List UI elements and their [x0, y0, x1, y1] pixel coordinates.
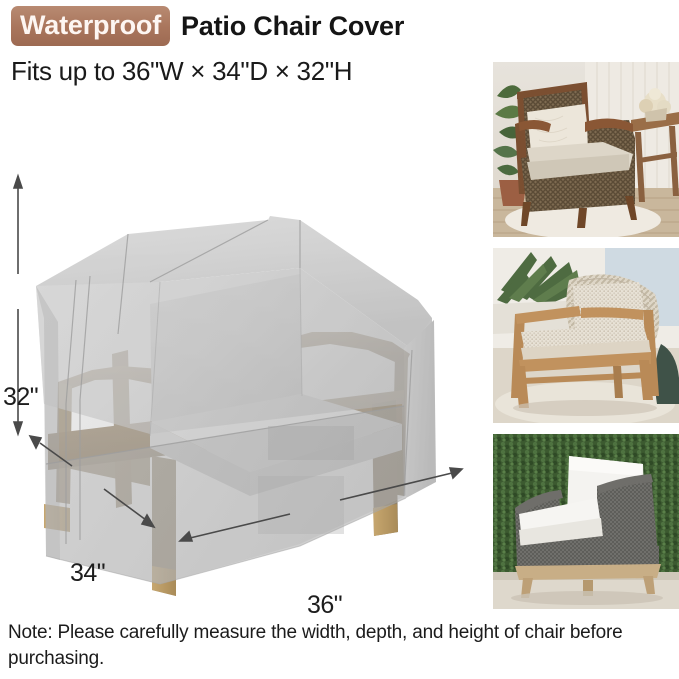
- photo-gray-wicker-chair-hedge: [493, 434, 679, 609]
- chair-cover-illustration: [0, 104, 480, 599]
- size-subtitle: Fits up to 36"W × 34"D × 32"H: [11, 56, 352, 87]
- page-title: Patio Chair Cover: [181, 11, 404, 42]
- title-row: Waterproof Patio Chair Cover: [11, 6, 404, 46]
- dimension-depth-label: 34": [70, 559, 105, 588]
- photo-teak-rope-chair: [493, 248, 679, 423]
- dimension-height-label: 32": [3, 383, 38, 412]
- header: Waterproof Patio Chair Cover Fits up to …: [0, 0, 500, 104]
- measurement-note: Note: Please carefully measure the width…: [8, 620, 673, 672]
- dimension-diagram: 32" 34" 36": [0, 104, 480, 599]
- photo-column: [493, 62, 679, 615]
- product-infographic: Waterproof Patio Chair Cover Fits up to …: [0, 0, 679, 679]
- dimension-width-label: 36": [307, 591, 342, 620]
- waterproof-badge: Waterproof: [11, 6, 170, 46]
- photo-wicker-chair-with-side-table: [493, 62, 679, 237]
